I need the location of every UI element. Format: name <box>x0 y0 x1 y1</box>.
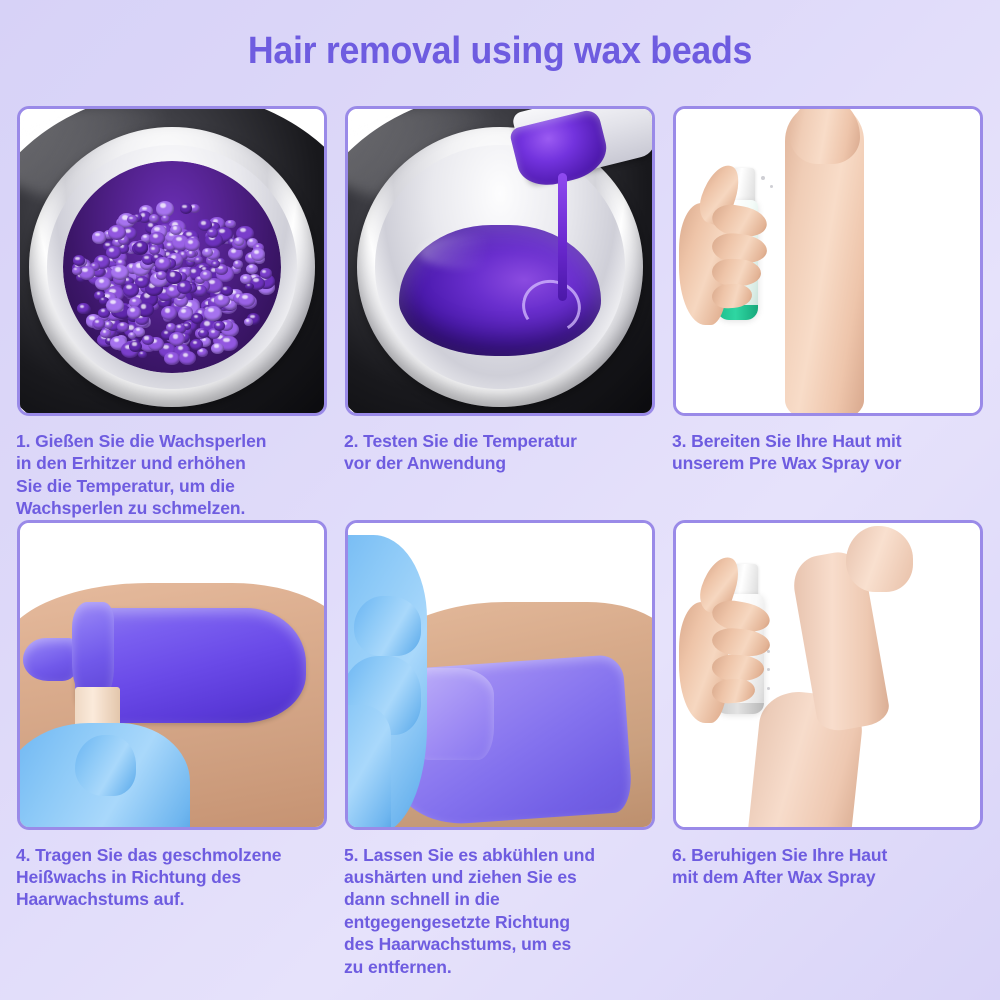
wax-bead <box>207 228 218 237</box>
infographic-page: Hair removal using wax beads 1. Gießen S… <box>0 0 1000 1000</box>
wax-bead <box>127 306 141 318</box>
step-image-2 <box>345 106 655 416</box>
wax-bead <box>177 281 192 294</box>
step-card-1: 1. Gießen Sie die Wachsperlen in den Erh… <box>8 100 336 520</box>
wax-bead <box>129 341 142 352</box>
fist <box>846 526 913 593</box>
wax-bead <box>202 248 212 257</box>
wax-bead <box>77 303 89 314</box>
wax-bead <box>117 322 128 332</box>
after-wax-spray-icon: After Wax Treatment Oil 50ml <box>676 523 980 827</box>
step-image-4 <box>17 520 327 830</box>
wax-bead <box>221 286 233 297</box>
step-caption-2: 2. Testen Sie die Temperatur vor der Anw… <box>336 430 664 475</box>
step-caption-3: 3. Bereiten Sie Ihre Haut mit unserem Pr… <box>664 430 992 475</box>
wax-bead <box>233 260 243 269</box>
wax-bead <box>204 306 222 321</box>
wax-bead <box>260 268 272 278</box>
wax-bead <box>180 203 192 213</box>
glove-finger <box>354 596 421 657</box>
wrist <box>790 106 860 164</box>
wax-bead <box>211 343 224 354</box>
wax-on-spatula-tip <box>72 602 115 693</box>
steps-grid: 1. Gießen Sie die Wachsperlen in den Erh… <box>0 100 1000 978</box>
glove-thumb <box>75 735 136 796</box>
wax-bead <box>72 267 82 276</box>
wax-edge-smear <box>23 638 78 681</box>
step-card-6: After Wax Treatment Oil 50ml 6. Beruhige… <box>664 520 992 978</box>
melted-wax-icon <box>348 109 652 413</box>
step-caption-5: 5. Lassen Sie es abkühlen und aushärten … <box>336 844 664 978</box>
wax-bead <box>238 293 254 307</box>
step-card-4: 4. Tragen Sie das geschmolzene Heißwachs… <box>8 520 336 978</box>
wax-bead <box>149 232 165 245</box>
wax-bead <box>123 283 139 297</box>
step-card-3: Pre Wax Treatment Spray 50ml 3. Bereiten… <box>664 100 992 520</box>
wax-bead <box>200 270 212 280</box>
step-caption-6: 6. Beruhigen Sie Ihre Haut mit dem After… <box>664 844 992 889</box>
wax-bead <box>92 231 107 244</box>
spray-mist <box>761 176 765 180</box>
step-image-3: Pre Wax Treatment Spray 50ml <box>673 106 983 416</box>
wax-peel-icon <box>348 523 652 827</box>
wax-bead <box>156 271 167 280</box>
step-image-5 <box>345 520 655 830</box>
wax-bead <box>93 318 105 329</box>
wax-beads-icon <box>20 109 324 413</box>
wax-bead <box>194 256 203 264</box>
wax-bead <box>161 215 170 223</box>
wax-bead <box>166 323 176 331</box>
spray-mist <box>767 687 770 690</box>
step-image-6: After Wax Treatment Oil 50ml <box>673 520 983 830</box>
wax-bead <box>234 237 244 246</box>
page-title: Hair removal using wax beads <box>30 0 970 70</box>
wax-drip-stream <box>558 173 567 301</box>
pre-wax-spray-icon: Pre Wax Treatment Spray 50ml <box>676 109 980 413</box>
step-card-5: 5. Lassen Sie es abkühlen und aushärten … <box>336 520 664 978</box>
gloved-wrist <box>345 705 391 830</box>
step-caption-4: 4. Tragen Sie das geschmolzene Heißwachs… <box>8 844 336 911</box>
wax-bead <box>106 298 124 313</box>
step-image-1 <box>17 106 327 416</box>
wax-bead <box>127 215 138 224</box>
wax-bead <box>251 248 265 260</box>
heater-bowl <box>63 161 282 374</box>
step-caption-1: 1. Gießen Sie die Wachsperlen in den Erh… <box>8 430 336 520</box>
step-card-2: 2. Testen Sie die Temperatur vor der Anw… <box>336 100 664 520</box>
wax-bead <box>164 352 179 365</box>
wax-application-icon <box>20 523 324 827</box>
wax-bead <box>108 225 126 240</box>
heater-bowl <box>391 161 610 374</box>
